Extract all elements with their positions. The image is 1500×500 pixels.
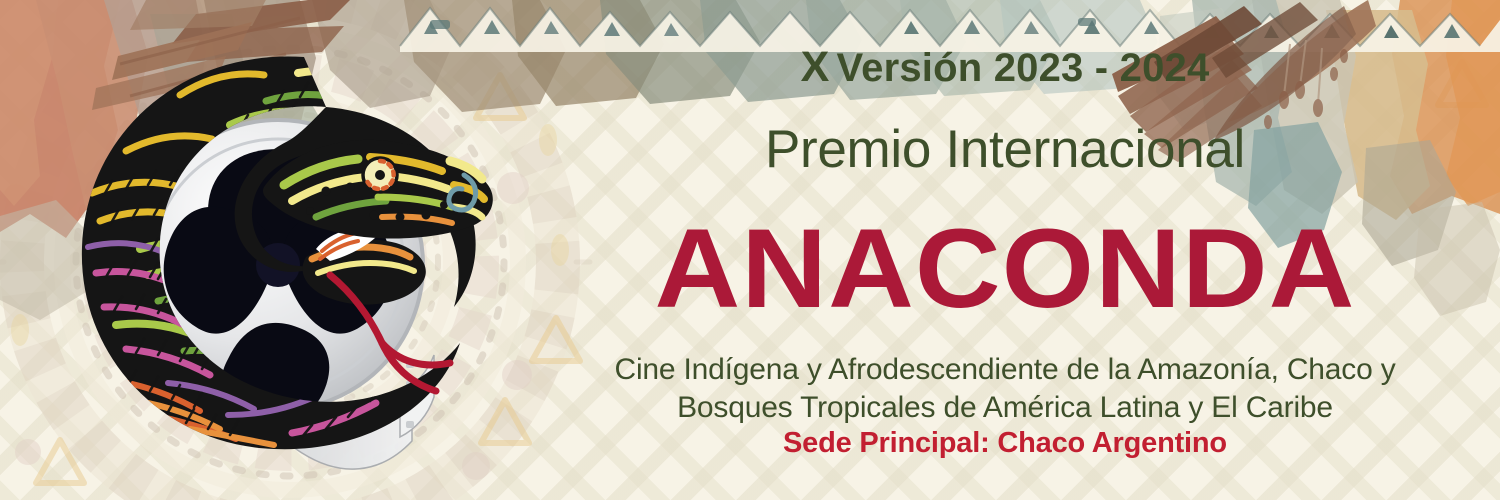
version-years: Versión 2023 - 2024 (836, 46, 1209, 90)
description-line-2: Bosques Tropicales de América Latina y E… (555, 393, 1455, 423)
award-subtitle: Premio Internacional (555, 123, 1455, 176)
version-line: XVersión 2023 - 2024 (555, 46, 1455, 89)
description-line-1: Cine Indígena y Afrodescendiente de la A… (555, 355, 1455, 385)
anaconda-award-banner: XVersión 2023 - 2024 Premio Internaciona… (0, 0, 1500, 500)
snake-eye (363, 158, 397, 192)
page-title: ANACONDA (528, 213, 1482, 325)
anaconda-film-reel-logo (30, 25, 570, 495)
text-block: XVersión 2023 - 2024 Premio Internaciona… (555, 0, 1455, 500)
version-roman-numeral: X (801, 43, 837, 91)
venue-line: Sede Principal: Chaco Argentino (555, 429, 1455, 458)
